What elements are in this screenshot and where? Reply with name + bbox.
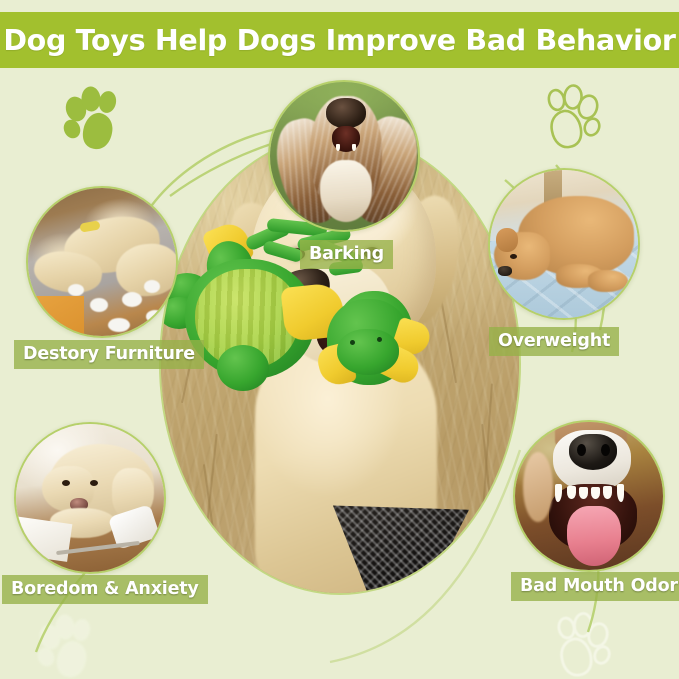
bubble-barking bbox=[268, 80, 420, 232]
toy-left-leg bbox=[217, 345, 269, 391]
paw-print-icon-top-left bbox=[60, 86, 126, 152]
header-banner: Dog Toys Help Dogs Improve Bad Behavior bbox=[0, 12, 679, 68]
bubble-overweight bbox=[488, 168, 640, 320]
photo-destroy-furniture bbox=[28, 188, 176, 336]
label-destroy-furniture: Destory Furniture bbox=[14, 340, 204, 369]
label-barking: Barking bbox=[300, 240, 393, 269]
photo-bored-labrador bbox=[16, 424, 164, 572]
paw-print-icon-bottom-right bbox=[548, 612, 614, 678]
page-title: Dog Toys Help Dogs Improve Bad Behavior bbox=[3, 24, 675, 57]
label-boredom-anxiety: Boredom & Anxiety bbox=[2, 575, 208, 604]
bubble-boredom-anxiety bbox=[14, 422, 166, 574]
label-bad-mouth-odor: Bad Mouth Odor bbox=[511, 572, 679, 601]
photo-barking-dog bbox=[270, 82, 418, 230]
infographic-canvas: Barking Destory Furniture Overweight Bor… bbox=[0, 0, 679, 679]
label-overweight: Overweight bbox=[489, 327, 619, 356]
toy-right-eye-left bbox=[350, 340, 355, 345]
photo-overweight-dog bbox=[490, 170, 638, 318]
paw-print-icon-bottom-left bbox=[34, 614, 100, 679]
bubble-bad-mouth-odor bbox=[513, 420, 665, 572]
photo-dog-open-mouth bbox=[515, 422, 663, 570]
toy-right-eye-right bbox=[377, 337, 382, 342]
toy-right-face bbox=[337, 329, 399, 375]
bubble-destroy-furniture bbox=[26, 186, 178, 338]
paw-print-icon-top-right bbox=[538, 84, 604, 150]
